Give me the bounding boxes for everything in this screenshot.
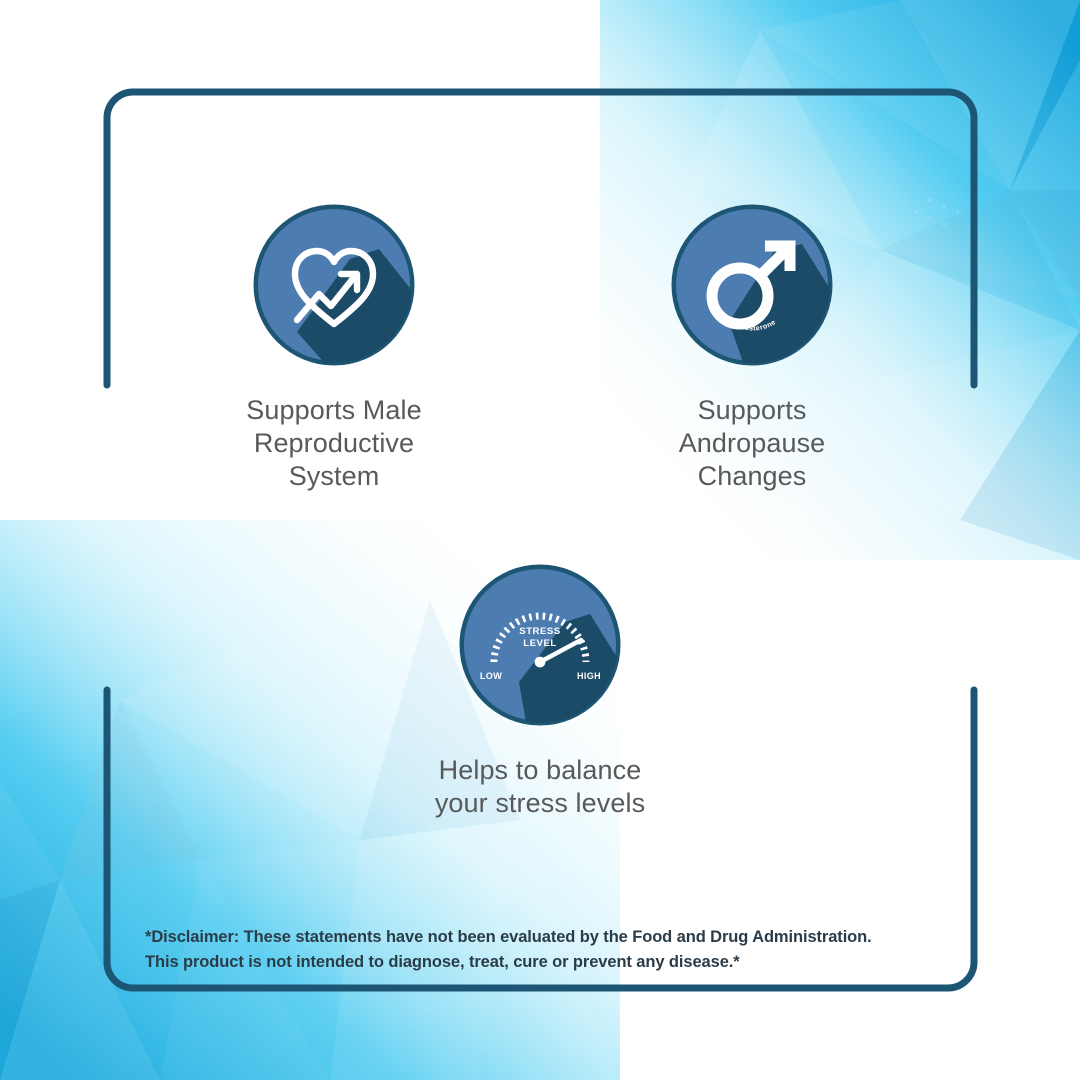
feature-caption: Helps to balance your stress levels [380,754,700,820]
disclaimer-text: *Disclaimer: These statements have not b… [145,925,945,975]
gauge-title-line1: STRESS [519,626,560,637]
gauge-max-label: HIGH [577,671,601,681]
feature-supports-male-reproductive-system: Supports Male Reproductive System [174,202,494,493]
heart-pulse-arrow-badge [251,202,417,368]
male-testosterone-symbol-badge: Testosterone [669,202,835,368]
gauge-hub [535,657,546,668]
feature-caption: Supports Andropause Changes [592,394,912,493]
feature-helps-balance-stress-levels: STRESS LEVEL LOW HIGH Helps to balance y… [380,562,700,820]
gauge-title-line2: LEVEL [523,638,556,649]
gauge-min-label: LOW [480,671,502,681]
feature-caption: Supports Male Reproductive System [174,394,494,493]
stress-gauge-badge: STRESS LEVEL LOW HIGH [457,562,623,728]
feature-supports-andropause-changes: Testosterone Supports Andropause Changes [592,202,912,493]
